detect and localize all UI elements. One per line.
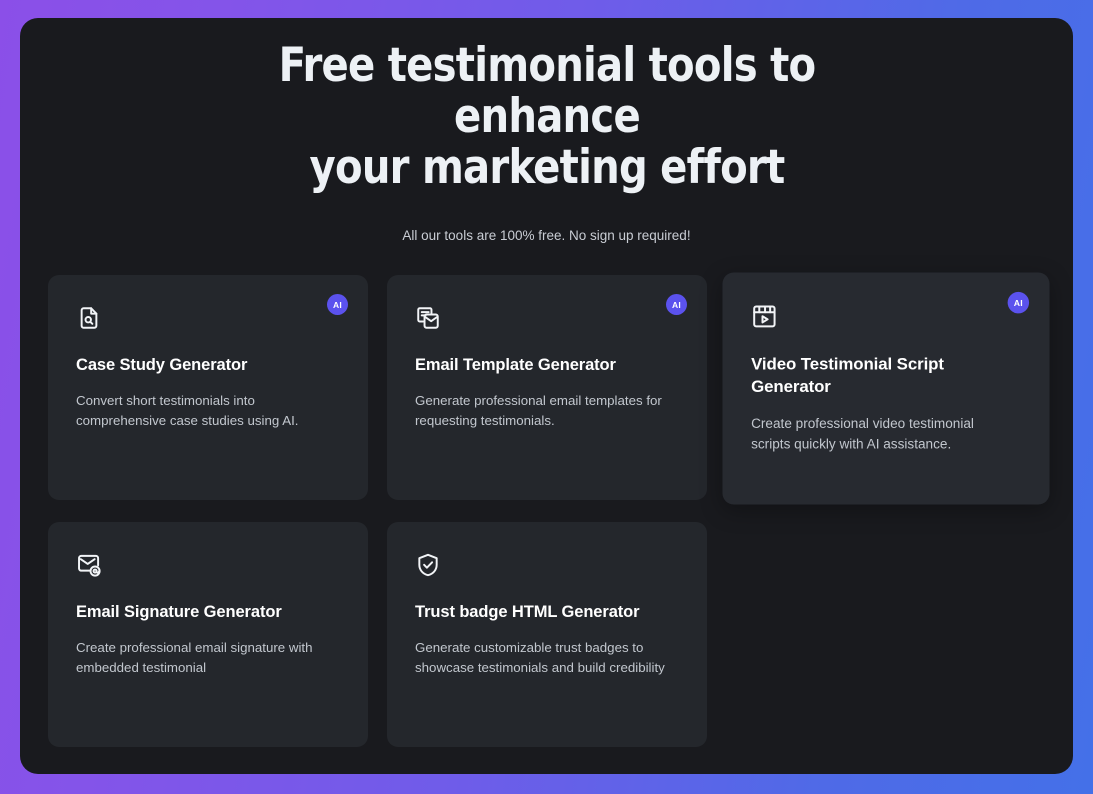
tool-card-title: Trust badge HTML Generator [415, 601, 655, 623]
mail-at-icon [76, 552, 102, 578]
ai-badge: AI [666, 294, 687, 315]
tool-card-grid: Case Study Generator Convert short testi… [48, 275, 1049, 747]
tool-card-title: Case Study Generator [76, 354, 316, 376]
tool-card-description: Create professional email signature with… [76, 638, 326, 677]
tool-card-email-signature-generator[interactable]: Email Signature Generator Create profess… [48, 522, 368, 747]
tool-card-description: Create professional video testimonial sc… [751, 414, 1006, 454]
page-title: Free testimonial tools to enhance your m… [214, 40, 879, 193]
tool-card-title: Email Template Generator [415, 354, 655, 376]
tool-card-case-study-generator[interactable]: Case Study Generator Convert short testi… [48, 275, 368, 500]
ai-badge: AI [1008, 292, 1029, 313]
tool-card-email-template-generator[interactable]: Email Template Generator Generate profes… [387, 275, 707, 500]
page-title-line-2: your marketing effort [309, 140, 784, 195]
tool-card-trust-badge-html-generator[interactable]: Trust badge HTML Generator Generate cust… [387, 522, 707, 747]
mail-template-icon [415, 305, 441, 331]
shield-check-icon [415, 552, 441, 578]
file-search-icon [76, 305, 102, 331]
tool-card-title: Email Signature Generator [76, 601, 316, 623]
app-window: Free testimonial tools to enhance your m… [20, 18, 1073, 774]
tool-card-description: Convert short testimonials into comprehe… [76, 391, 326, 430]
hero-section: Free testimonial tools to enhance your m… [20, 18, 1073, 245]
ai-badge: AI [327, 294, 348, 315]
clapperboard-play-icon [751, 303, 778, 330]
tool-card-description: Generate professional email templates fo… [415, 391, 665, 430]
page-subtitle: All our tools are 100% free. No sign up … [20, 227, 1073, 245]
tool-card-title: Video Testimonial Script Generator [751, 353, 996, 398]
page-title-line-1: Free testimonial tools to enhance [278, 38, 815, 144]
tool-card-video-testimonial-script-generator[interactable]: Video Testimonial Script Generator Creat… [722, 273, 1049, 505]
tool-card-description: Generate customizable trust badges to sh… [415, 638, 665, 677]
